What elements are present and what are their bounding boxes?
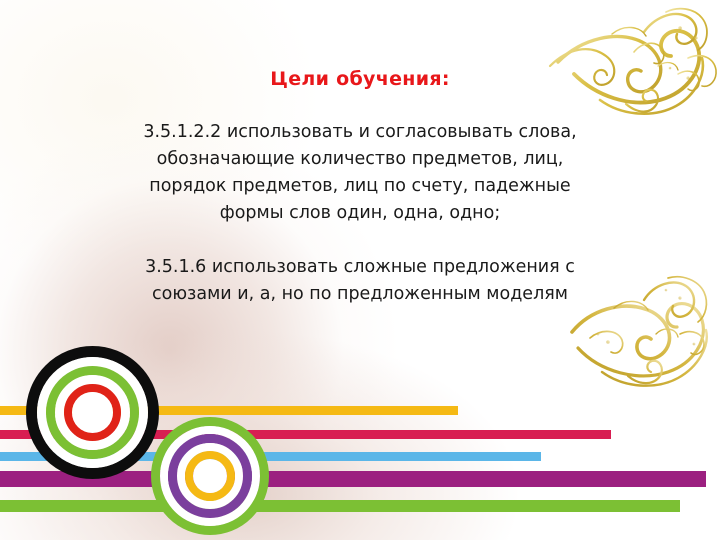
page-title: Цели обучения: <box>0 68 720 91</box>
objective-line: 3.5.1.6 использовать сложные предложения… <box>80 254 640 281</box>
objective-line: порядок предметов, лиц по счету, падежны… <box>80 173 640 200</box>
slide-canvas: Цели обучения: 3.5.1.2.2 использовать и … <box>0 0 720 540</box>
ring-band <box>193 459 227 493</box>
stripe-green <box>0 500 680 512</box>
objective-line: 3.5.1.2.2 использовать и согласовывать с… <box>80 119 640 146</box>
objective-paragraph-2: 3.5.1.6 использовать сложные предложения… <box>80 254 640 308</box>
paragraph-spacer <box>0 227 720 254</box>
ring-target-black-green-red <box>26 346 159 479</box>
slide-text-block: Цели обучения: 3.5.1.2.2 использовать и … <box>0 68 720 308</box>
objective-line: союзами и, а, но по предложенным моделям <box>80 281 640 308</box>
ring-target-green-purple-yellow <box>151 417 269 535</box>
ring-band <box>72 392 113 433</box>
objective-line: формы слов один, одна, одно; <box>80 200 640 227</box>
objective-paragraph-1: 3.5.1.2.2 использовать и согласовывать с… <box>80 119 640 227</box>
objective-line: обозначающие количество предметов, лиц, <box>80 146 640 173</box>
